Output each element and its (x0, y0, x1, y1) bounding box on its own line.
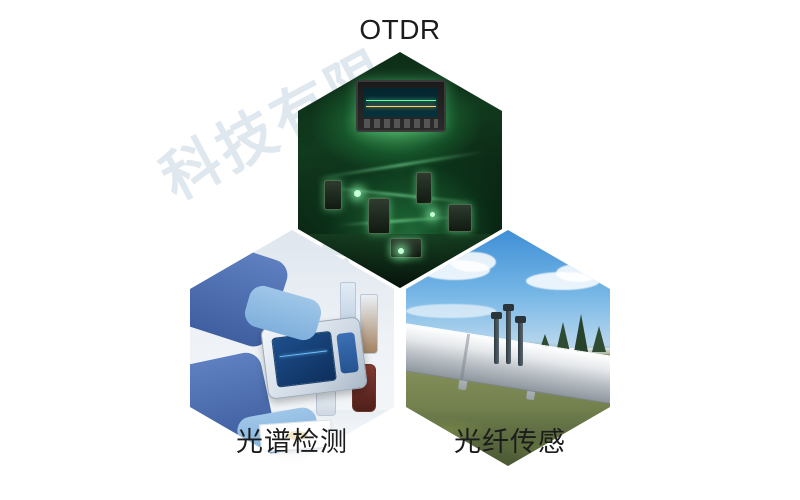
otdr-display (364, 88, 438, 117)
otdr-instrument (356, 80, 446, 132)
otdr-keypad (364, 119, 438, 128)
optical-mount (390, 238, 422, 258)
caption-fiber-sensing: 光纤传感 (398, 420, 622, 459)
riser-cap (515, 316, 526, 323)
cloud (556, 264, 600, 282)
riser-cap (503, 304, 514, 311)
laser-glow-point (354, 190, 361, 197)
laser-glow-point (430, 212, 435, 217)
riser-cap (491, 312, 502, 319)
laser-glow-point (398, 248, 404, 254)
optical-mount (324, 180, 342, 210)
cloud (406, 304, 496, 318)
pipeline-riser (494, 316, 499, 364)
tree (574, 314, 588, 352)
caption-otdr: OTDR (298, 14, 502, 46)
spectrometer-grip (336, 332, 359, 374)
optical-mount (416, 172, 432, 204)
caption-spectral-detection: 光谱检测 (180, 420, 404, 459)
pipeline-riser (518, 320, 523, 366)
otdr-trace-line (366, 106, 436, 107)
tree (592, 326, 606, 352)
optical-mount (448, 204, 472, 232)
otdr-trace-line (366, 100, 436, 101)
pipeline-riser (506, 308, 511, 364)
optical-mount (368, 198, 390, 234)
